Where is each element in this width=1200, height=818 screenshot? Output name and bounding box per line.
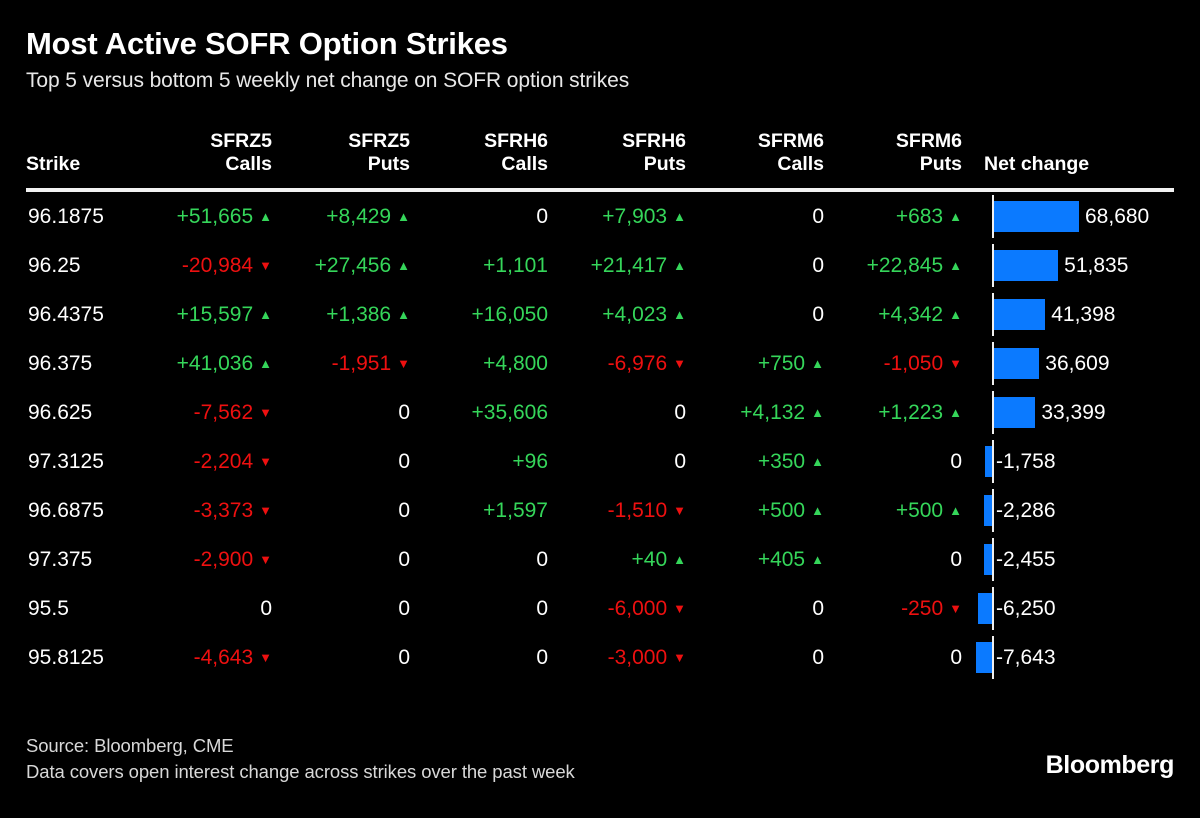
triangle-up-icon: ▲ [949,388,962,437]
cell-number: 0 [812,192,824,241]
cell-value: 0 [282,486,420,535]
cell-number: +41,036 [177,339,254,388]
source-line: Source: Bloomberg, CME [26,733,1174,759]
triangle-down-icon: ▼ [673,584,686,633]
cell-value: 0 [558,388,696,437]
cell-value: -20,984▼ [144,241,282,290]
cell-number: -3,000 [608,633,668,682]
column-header-sfrm6-puts-bottom: Puts [834,153,962,176]
cell-value: +21,417▲ [558,241,696,290]
net-change-label: 51,835 [1064,241,1128,290]
triangle-down-icon: ▼ [397,339,410,388]
net-change-bar-cell: 51,835 [972,241,1200,290]
cell-strike: 96.25 [26,241,144,290]
cell-number: 0 [950,437,962,486]
triangle-up-icon: ▲ [949,486,962,535]
cell-value: +15,597▲ [144,290,282,339]
cell-number: 0 [674,388,686,437]
triangle-down-icon: ▼ [259,241,272,290]
cell-number: 0 [950,633,962,682]
net-change-bar [976,642,992,673]
table-row: 96.6875-3,373▼0+1,597-1,510▼+500▲+500▲-2… [26,486,1200,535]
triangle-up-icon: ▲ [397,290,410,339]
column-header-sfrz5-puts: SFRZ5 Puts [282,130,420,188]
cell-number: 0 [398,584,410,633]
cell-number: 0 [398,633,410,682]
table-row: 96.375+41,036▲-1,951▼+4,800-6,976▼+750▲-… [26,339,1200,388]
cell-net-change: 36,609 [972,339,1200,388]
cell-number: +1,597 [483,486,548,535]
cell-value: -3,373▼ [144,486,282,535]
net-change-bar [994,299,1045,330]
cell-number: -2,204 [194,437,254,486]
cell-value: 0 [834,535,972,584]
cell-value: -1,951▼ [282,339,420,388]
header-block: Most Active SOFR Option Strikes Top 5 ve… [0,0,1200,94]
cell-strike: 96.4375 [26,290,144,339]
cell-number: -7,562 [194,388,254,437]
cell-net-change: -2,455 [972,535,1200,584]
cell-value: -4,643▼ [144,633,282,682]
triangle-down-icon: ▼ [259,633,272,682]
cell-number: 0 [398,535,410,584]
table-row: 95.5000-6,000▼0-250▼-6,250 [26,584,1200,633]
strikes-table: Strike SFRZ5 Calls SFRZ5 Puts SFRH6 Call… [26,130,1200,682]
triangle-up-icon: ▲ [673,290,686,339]
table-body: 96.1875+51,665▲+8,429▲0+7,903▲0+683▲68,6… [26,192,1200,682]
column-header-sfrh6-puts-top: SFRH6 [558,130,686,153]
column-header-sfrz5-calls: SFRZ5 Calls [144,130,282,188]
net-change-label: -2,455 [996,535,1056,584]
cell-value: -2,900▼ [144,535,282,584]
cell-number: +51,665 [177,192,254,241]
cell-number: 0 [536,535,548,584]
cell-value: +350▲ [696,437,834,486]
cell-number: +500 [758,486,805,535]
cell-number: +4,132 [740,388,805,437]
cell-value: +683▲ [834,192,972,241]
cell-value: +51,665▲ [144,192,282,241]
cell-net-change: 41,398 [972,290,1200,339]
cell-value: -1,510▼ [558,486,696,535]
net-change-bar-cell: 41,398 [972,290,1200,339]
net-change-label: -1,758 [996,437,1056,486]
cell-strike: 95.8125 [26,633,144,682]
cell-number: +40 [632,535,668,584]
cell-value: +4,342▲ [834,290,972,339]
column-header-strike: Strike [26,130,144,188]
cell-value: 0 [696,192,834,241]
cell-value: 0 [282,388,420,437]
cell-value: +1,386▲ [282,290,420,339]
net-change-label: -6,250 [996,584,1056,633]
cell-number: -6,976 [608,339,668,388]
cell-number: 0 [674,437,686,486]
cell-number: -6,000 [608,584,668,633]
cell-value: 0 [282,584,420,633]
cell-number: +27,456 [315,241,392,290]
cell-value: -250▼ [834,584,972,633]
table-row: 97.375-2,900▼00+40▲+405▲0-2,455 [26,535,1200,584]
header-row: Strike SFRZ5 Calls SFRZ5 Puts SFRH6 Call… [26,130,1200,188]
cell-value: +41,036▲ [144,339,282,388]
footer-block: Source: Bloomberg, CME Data covers open … [26,733,1174,786]
cell-value: +4,800 [420,339,558,388]
zero-axis-line [992,636,994,679]
cell-number: +1,386 [326,290,391,339]
cell-number: 0 [398,486,410,535]
cell-number: -250 [901,584,943,633]
cell-number: +4,342 [878,290,943,339]
triangle-up-icon: ▲ [673,192,686,241]
column-header-sfrz5-calls-bottom: Calls [144,153,272,176]
cell-net-change: -1,758 [972,437,1200,486]
net-change-label: 36,609 [1045,339,1109,388]
triangle-up-icon: ▲ [811,486,824,535]
triangle-down-icon: ▼ [259,437,272,486]
column-header-sfrm6-calls-bottom: Calls [696,153,824,176]
triangle-down-icon: ▼ [259,388,272,437]
cell-value: +40▲ [558,535,696,584]
net-change-label: 41,398 [1051,290,1115,339]
cell-number: -1,510 [608,486,668,535]
triangle-up-icon: ▲ [811,388,824,437]
triangle-down-icon: ▼ [259,535,272,584]
table-row: 96.1875+51,665▲+8,429▲0+7,903▲0+683▲68,6… [26,192,1200,241]
cell-number: +22,845 [867,241,944,290]
cell-number: +405 [758,535,805,584]
column-header-sfrz5-puts-bottom: Puts [282,153,410,176]
cell-value: +500▲ [834,486,972,535]
column-header-sfrh6-calls-bottom: Calls [420,153,548,176]
cell-number: 0 [536,192,548,241]
cell-number: +750 [758,339,805,388]
column-header-sfrh6-calls-top: SFRH6 [420,130,548,153]
cell-value: +7,903▲ [558,192,696,241]
net-change-bar [984,544,992,575]
cell-number: 0 [536,633,548,682]
zero-axis-line [992,440,994,483]
cell-strike: 96.625 [26,388,144,437]
triangle-up-icon: ▲ [949,192,962,241]
cell-number: +4,023 [602,290,667,339]
triangle-up-icon: ▲ [397,241,410,290]
column-header-sfrm6-calls-top: SFRM6 [696,130,824,153]
data-table-container: Strike SFRZ5 Calls SFRZ5 Puts SFRH6 Call… [26,130,1174,682]
column-header-sfrh6-calls: SFRH6 Calls [420,130,558,188]
triangle-up-icon: ▲ [259,290,272,339]
table-row: 97.3125-2,204▼0+960+350▲0-1,758 [26,437,1200,486]
page-subtitle: Top 5 versus bottom 5 weekly net change … [26,68,1200,94]
cell-number: +15,597 [177,290,254,339]
cell-value: +4,023▲ [558,290,696,339]
triangle-up-icon: ▲ [811,339,824,388]
cell-value: 0 [282,535,420,584]
net-change-bar-cell: 36,609 [972,339,1200,388]
cell-value: -1,050▼ [834,339,972,388]
cell-value: -6,000▼ [558,584,696,633]
triangle-up-icon: ▲ [259,339,272,388]
triangle-down-icon: ▼ [673,633,686,682]
table-row: 96.25-20,984▼+27,456▲+1,101+21,417▲0+22,… [26,241,1200,290]
cell-number: +1,101 [483,241,548,290]
column-header-sfrh6-puts-bottom: Puts [558,153,686,176]
triangle-down-icon: ▼ [949,339,962,388]
cell-strike: 96.375 [26,339,144,388]
triangle-up-icon: ▲ [811,535,824,584]
net-change-bar [994,201,1079,232]
cell-value: +16,050 [420,290,558,339]
cell-value: +405▲ [696,535,834,584]
cell-number: +8,429 [326,192,391,241]
zero-axis-line [992,489,994,532]
cell-number: -4,643 [194,633,254,682]
cell-value: +8,429▲ [282,192,420,241]
cell-value: +1,101 [420,241,558,290]
cell-value: +22,845▲ [834,241,972,290]
cell-number: 0 [812,584,824,633]
triangle-up-icon: ▲ [949,290,962,339]
triangle-up-icon: ▲ [397,192,410,241]
column-header-strike-bottom: Strike [26,153,144,176]
triangle-up-icon: ▲ [259,192,272,241]
triangle-up-icon: ▲ [811,437,824,486]
cell-strike: 97.3125 [26,437,144,486]
table-row: 96.625-7,562▼0+35,6060+4,132▲+1,223▲33,3… [26,388,1200,437]
cell-number: -1,050 [884,339,944,388]
cell-number: 0 [398,388,410,437]
cell-net-change: 51,835 [972,241,1200,290]
triangle-down-icon: ▼ [259,486,272,535]
triangle-up-icon: ▲ [949,241,962,290]
cell-value: +4,132▲ [696,388,834,437]
cell-number: +7,903 [602,192,667,241]
cell-number: +683 [896,192,943,241]
cell-value: -7,562▼ [144,388,282,437]
cell-value: +96 [420,437,558,486]
cell-number: +4,800 [483,339,548,388]
triangle-up-icon: ▲ [673,241,686,290]
cell-value: 0 [834,633,972,682]
net-change-label: 68,680 [1085,192,1149,241]
net-change-bar-cell: -2,286 [972,486,1200,535]
chart-card: Most Active SOFR Option Strikes Top 5 ve… [0,0,1200,818]
cell-number: 0 [950,535,962,584]
cell-value: 0 [696,290,834,339]
net-change-label: 33,399 [1041,388,1105,437]
cell-number: 0 [398,437,410,486]
net-change-bar-cell: -2,455 [972,535,1200,584]
cell-strike: 95.5 [26,584,144,633]
cell-value: 0 [282,633,420,682]
cell-value: 0 [558,437,696,486]
cell-value: 0 [420,584,558,633]
net-change-bar-cell: 68,680 [972,192,1200,241]
triangle-up-icon: ▲ [673,535,686,584]
cell-strike: 97.375 [26,535,144,584]
cell-number: 0 [536,584,548,633]
table-row: 95.8125-4,643▼00-3,000▼00-7,643 [26,633,1200,682]
cell-number: 0 [812,241,824,290]
net-change-bar [994,250,1058,281]
net-change-bar [984,495,992,526]
cell-number: +21,417 [591,241,668,290]
cell-number: +350 [758,437,805,486]
cell-value: 0 [420,192,558,241]
cell-value: +35,606 [420,388,558,437]
table-row: 96.4375+15,597▲+1,386▲+16,050+4,023▲0+4,… [26,290,1200,339]
table-header: Strike SFRZ5 Calls SFRZ5 Puts SFRH6 Call… [26,130,1200,192]
column-header-sfrh6-puts: SFRH6 Puts [558,130,696,188]
cell-number: -1,951 [332,339,392,388]
cell-value: 0 [420,535,558,584]
cell-value: +1,597 [420,486,558,535]
cell-number: +35,606 [472,388,549,437]
cell-value: 0 [696,584,834,633]
triangle-down-icon: ▼ [673,486,686,535]
cell-value: +27,456▲ [282,241,420,290]
column-header-sfrm6-puts-top: SFRM6 [834,130,962,153]
cell-number: -3,373 [194,486,254,535]
net-change-bar-cell: -6,250 [972,584,1200,633]
cell-value: +1,223▲ [834,388,972,437]
cell-strike: 96.1875 [26,192,144,241]
cell-number: 0 [260,584,272,633]
cell-value: +500▲ [696,486,834,535]
zero-axis-line [992,538,994,581]
cell-net-change: 33,399 [972,388,1200,437]
cell-number: +96 [512,437,548,486]
cell-net-change: -7,643 [972,633,1200,682]
cell-value: 0 [282,437,420,486]
cell-number: -2,900 [194,535,254,584]
cell-value: 0 [696,241,834,290]
net-change-bar [985,446,992,477]
cell-value: +750▲ [696,339,834,388]
triangle-down-icon: ▼ [673,339,686,388]
cell-number: +500 [896,486,943,535]
column-header-sfrz5-puts-top: SFRZ5 [282,130,410,153]
net-change-bar [978,593,992,624]
column-header-net-change: Net change [972,130,1200,188]
cell-value: -2,204▼ [144,437,282,486]
note-line: Data covers open interest change across … [26,759,1174,785]
page-title: Most Active SOFR Option Strikes [26,26,1200,63]
net-change-bar-cell: 33,399 [972,388,1200,437]
triangle-down-icon: ▼ [949,584,962,633]
cell-value: -6,976▼ [558,339,696,388]
net-change-label: -2,286 [996,486,1056,535]
net-change-bar [994,348,1039,379]
cell-number: -20,984 [182,241,253,290]
cell-strike: 96.6875 [26,486,144,535]
cell-value: 0 [696,633,834,682]
cell-value: 0 [834,437,972,486]
net-change-label: -7,643 [996,633,1056,682]
cell-number: 0 [812,633,824,682]
cell-net-change: -2,286 [972,486,1200,535]
cell-number: +1,223 [878,388,943,437]
cell-number: 0 [812,290,824,339]
column-header-sfrz5-calls-top: SFRZ5 [144,130,272,153]
column-header-sfrm6-puts: SFRM6 Puts [834,130,972,188]
bloomberg-logo: Bloomberg [1046,751,1174,780]
cell-number: +16,050 [472,290,549,339]
net-change-bar-cell: -7,643 [972,633,1200,682]
cell-net-change: 68,680 [972,192,1200,241]
column-header-net-change-bottom: Net change [984,153,1200,176]
column-header-sfrm6-calls: SFRM6 Calls [696,130,834,188]
cell-value: 0 [144,584,282,633]
net-change-bar-cell: -1,758 [972,437,1200,486]
cell-net-change: -6,250 [972,584,1200,633]
zero-axis-line [992,587,994,630]
cell-value: -3,000▼ [558,633,696,682]
net-change-bar [994,397,1035,428]
cell-value: 0 [420,633,558,682]
